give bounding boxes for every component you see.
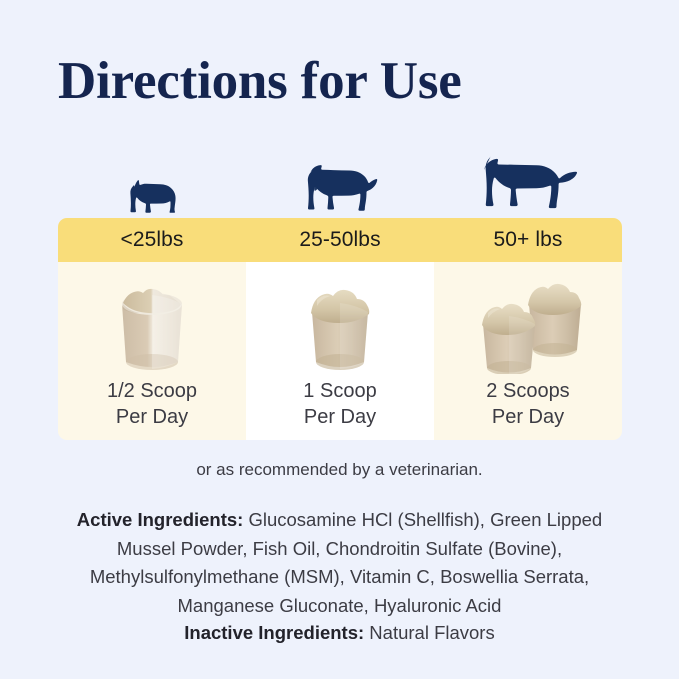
dosage-table: <25lbs 25-50lbs 50+ lbs — [58, 218, 622, 440]
medium-dog-silhouette-icon — [297, 158, 383, 216]
dose-label-small: 1/2 Scoop Per Day — [107, 378, 197, 431]
dose-line-1: 1 Scoop — [303, 380, 376, 402]
dose-line-2: Per Day — [303, 404, 376, 430]
dog-size-illustrations — [58, 138, 622, 218]
inactive-ingredients-label: Inactive Ingredients: — [184, 622, 364, 643]
two-scoops-icon — [464, 262, 592, 374]
weight-header-large: 50+ lbs — [434, 218, 622, 262]
dosage-cell-medium: 1 Scoop Per Day — [246, 262, 434, 440]
dose-label-medium: 1 Scoop Per Day — [303, 378, 376, 431]
dog-silhouette-small-cell — [58, 138, 246, 218]
weight-header-medium: 25-50lbs — [246, 218, 434, 262]
dose-line-1: 1/2 Scoop — [107, 380, 197, 402]
small-dog-silhouette-icon — [124, 172, 180, 216]
dog-silhouette-medium-cell — [246, 138, 434, 218]
dose-line-2: Per Day — [486, 404, 569, 430]
active-ingredients-label: Active Ingredients: — [77, 509, 244, 530]
dosage-table-body-row: 1/2 Scoop Per Day — [58, 262, 622, 440]
veterinarian-note: or as recommended by a veterinarian. — [0, 460, 679, 480]
inactive-ingredients: Inactive Ingredients: Natural Flavors — [0, 622, 679, 644]
weight-header-small: <25lbs — [58, 218, 246, 262]
dosage-cell-small: 1/2 Scoop Per Day — [58, 262, 246, 440]
half-scoop-icon — [104, 262, 200, 374]
inactive-ingredients-list: Natural Flavors — [364, 622, 495, 643]
one-scoop-icon — [297, 262, 383, 374]
dose-line-1: 2 Scoops — [486, 380, 569, 402]
dog-silhouette-large-cell — [434, 138, 622, 218]
dose-line-2: Per Day — [107, 404, 197, 430]
large-dog-silhouette-icon — [470, 150, 586, 216]
active-ingredients: Active Ingredients: Glucosamine HCl (She… — [50, 506, 629, 621]
dosage-table-header-row: <25lbs 25-50lbs 50+ lbs — [58, 218, 622, 262]
page-title: Directions for Use — [58, 52, 462, 110]
dose-label-large: 2 Scoops Per Day — [486, 378, 569, 431]
dosage-cell-large: 2 Scoops Per Day — [434, 262, 622, 440]
